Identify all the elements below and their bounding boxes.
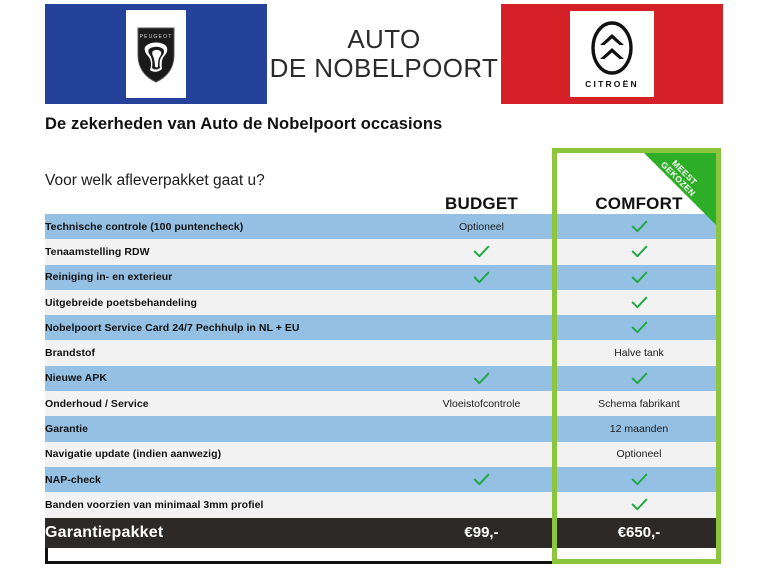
budget-value bbox=[411, 340, 552, 365]
budget-value bbox=[411, 467, 552, 492]
peugeot-logo-icon: PEUGEOT bbox=[135, 25, 177, 85]
table-row: Onderhoud / ServiceVloeistofcontroleSche… bbox=[45, 391, 721, 416]
budget-value: Vloeistofcontrole bbox=[411, 391, 552, 416]
feature-label: Onderhoud / Service bbox=[45, 391, 411, 416]
checkmark-icon bbox=[631, 245, 648, 258]
citroen-logo-card: CITROËN bbox=[570, 11, 654, 97]
peugeot-logo-card: PEUGEOT bbox=[126, 10, 186, 98]
table-row: Banden voorzien van minimaal 3mm profiel bbox=[45, 492, 721, 517]
feature-label: Uitgebreide poetsbehandeling bbox=[45, 290, 411, 315]
table-question: Voor welk afleverpakket gaat u? bbox=[45, 148, 411, 214]
budget-value bbox=[411, 239, 552, 264]
table-row: NAP-check bbox=[45, 467, 721, 492]
checkmark-icon bbox=[473, 245, 490, 258]
budget-value: Optioneel bbox=[411, 214, 552, 239]
citroen-brand-panel: CITROËN bbox=[501, 4, 723, 104]
checkmark-icon bbox=[631, 372, 648, 385]
feature-label: Navigatie update (indien aanwezig) bbox=[45, 442, 411, 467]
table-row: Technische controle (100 puntencheck)Opt… bbox=[45, 214, 721, 239]
peugeot-brand-panel: PEUGEOT bbox=[45, 4, 267, 104]
table-row: Garantie12 maanden bbox=[45, 416, 721, 441]
checkmark-icon bbox=[631, 296, 648, 309]
comfort-value: Schema fabrikant bbox=[557, 391, 721, 416]
checkmark-icon bbox=[631, 498, 648, 511]
comfort-value bbox=[557, 366, 721, 391]
comparison-grid: Voor welk afleverpakket gaat u? BUDGET C… bbox=[45, 148, 721, 548]
table-row: Reiniging in- en exterieur bbox=[45, 265, 721, 290]
table-row: Tenaamstelling RDW bbox=[45, 239, 721, 264]
budget-value bbox=[411, 442, 552, 467]
dealer-name-line1: AUTO bbox=[270, 25, 499, 54]
table-row: Navigatie update (indien aanwezig)Option… bbox=[45, 442, 721, 467]
package-comparison-table: Voor welk afleverpakket gaat u? BUDGET C… bbox=[45, 148, 721, 564]
budget-value bbox=[411, 315, 552, 340]
comfort-value bbox=[557, 214, 721, 239]
column-header-comfort: COMFORT bbox=[557, 148, 721, 214]
table-row: Nobelpoort Service Card 24/7 Pechhulp in… bbox=[45, 315, 721, 340]
table-footer-row: Garantiepakket€99,-€650,- bbox=[45, 518, 721, 548]
page-title: De zekerheden van Auto de Nobelpoort occ… bbox=[45, 115, 442, 134]
citroen-logo-icon bbox=[588, 19, 636, 77]
footer-label: Garantiepakket bbox=[45, 518, 411, 548]
dealer-name-line2: DE NOBELPOORT bbox=[270, 54, 499, 83]
table-header-row: Voor welk afleverpakket gaat u? BUDGET C… bbox=[45, 148, 721, 214]
comfort-value bbox=[557, 492, 721, 517]
feature-label: Reiniging in- en exterieur bbox=[45, 265, 411, 290]
svg-text:PEUGEOT: PEUGEOT bbox=[139, 34, 172, 40]
feature-label: Garantie bbox=[45, 416, 411, 441]
column-header-budget: BUDGET bbox=[411, 148, 552, 214]
feature-label: Nobelpoort Service Card 24/7 Pechhulp in… bbox=[45, 315, 411, 340]
feature-label: Technische controle (100 puntencheck) bbox=[45, 214, 411, 239]
comfort-value: Halve tank bbox=[557, 340, 721, 365]
table-row: BrandstofHalve tank bbox=[45, 340, 721, 365]
budget-value bbox=[411, 265, 552, 290]
checkmark-icon bbox=[473, 473, 490, 486]
checkmark-icon bbox=[473, 372, 490, 385]
budget-value bbox=[411, 416, 552, 441]
table-row: Nieuwe APK bbox=[45, 366, 721, 391]
budget-value bbox=[411, 492, 552, 517]
budget-value bbox=[411, 366, 552, 391]
comfort-value bbox=[557, 239, 721, 264]
table-row: Uitgebreide poetsbehandeling bbox=[45, 290, 721, 315]
checkmark-icon bbox=[631, 220, 648, 233]
comfort-value bbox=[557, 265, 721, 290]
citroen-wordmark-text: CITROËN bbox=[585, 79, 639, 89]
comfort-value: Optioneel bbox=[557, 442, 721, 467]
dealer-wordmark: AUTO DE NOBELPOORT bbox=[267, 4, 501, 104]
checkmark-icon bbox=[473, 271, 490, 284]
comfort-price: €650,- bbox=[557, 518, 721, 548]
budget-value bbox=[411, 290, 552, 315]
feature-label: Banden voorzien van minimaal 3mm profiel bbox=[45, 492, 411, 517]
checkmark-icon bbox=[631, 271, 648, 284]
comfort-value bbox=[557, 290, 721, 315]
comfort-value bbox=[557, 315, 721, 340]
feature-label: Nieuwe APK bbox=[45, 366, 411, 391]
budget-price: €99,- bbox=[411, 518, 552, 548]
checkmark-icon bbox=[631, 321, 648, 334]
feature-label: NAP-check bbox=[45, 467, 411, 492]
checkmark-icon bbox=[631, 473, 648, 486]
comfort-value: 12 maanden bbox=[557, 416, 721, 441]
brand-banner: PEUGEOT AUTO DE NOBELPOORT CITROËN bbox=[45, 4, 723, 104]
comfort-value bbox=[557, 467, 721, 492]
feature-label: Brandstof bbox=[45, 340, 411, 365]
feature-label: Tenaamstelling RDW bbox=[45, 239, 411, 264]
